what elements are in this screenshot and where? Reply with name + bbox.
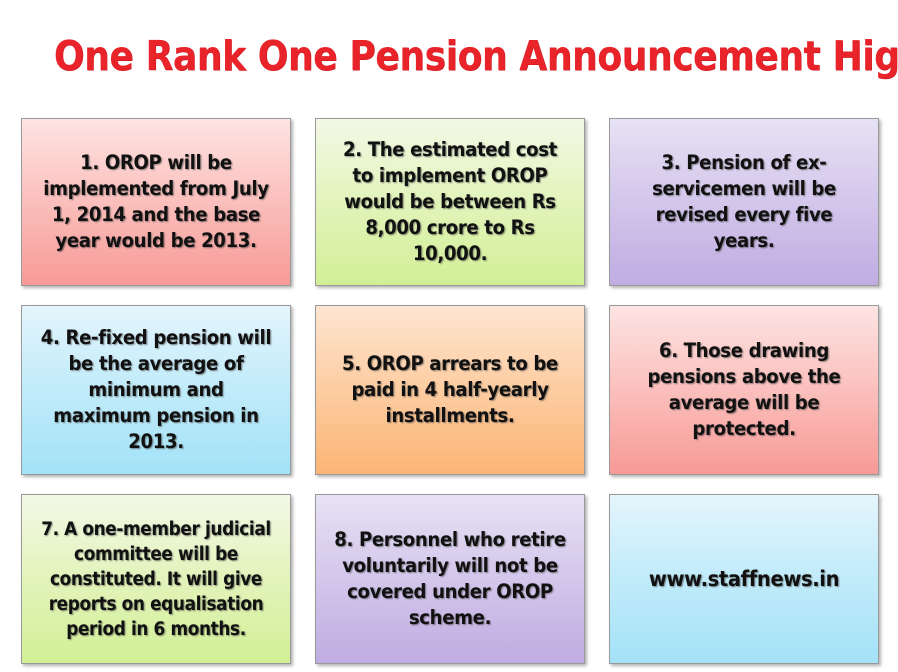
highlight-card-6-text: 6. Those drawing pensions above the aver…	[627, 338, 861, 442]
highlight-card-5-text: 5. OROP arrears to be paid in 4 half-yea…	[333, 351, 567, 429]
highlight-card-8: 8. Personnel who retire voluntarily will…	[315, 494, 585, 664]
highlight-card-7: 7. A one-member judicial committee will …	[21, 494, 291, 664]
website-url-label: www.staffnews.in	[627, 565, 861, 593]
highlight-card-7-text: 7. A one-member judicial committee will …	[39, 517, 273, 642]
highlight-card-8-text: 8. Personnel who retire voluntarily will…	[333, 527, 567, 631]
highlight-card-1-text: 1. OROP will be implemented from July 1,…	[39, 150, 273, 254]
highlight-card-5: 5. OROP arrears to be paid in 4 half-yea…	[315, 305, 585, 475]
highlight-card-6: 6. Those drawing pensions above the aver…	[609, 305, 879, 475]
page-title: One Rank One Pension Announcement Highli…	[54, 33, 844, 79]
highlight-card-4: 4. Re-fixed pension will be the average …	[21, 305, 291, 475]
website-card[interactable]: www.staffnews.in	[609, 494, 879, 664]
highlight-card-3-text: 3. Pension of ex-servicemen will be revi…	[627, 150, 861, 254]
highlight-card-1: 1. OROP will be implemented from July 1,…	[21, 118, 291, 286]
highlight-card-2-text: 2. The estimated cost to implement OROP …	[333, 137, 567, 267]
highlight-card-2: 2. The estimated cost to implement OROP …	[315, 118, 585, 286]
highlight-card-3: 3. Pension of ex-servicemen will be revi…	[609, 118, 879, 286]
highlight-card-grid: 1. OROP will be implemented from July 1,…	[21, 118, 880, 664]
highlight-card-4-text: 4. Re-fixed pension will be the average …	[39, 325, 273, 455]
